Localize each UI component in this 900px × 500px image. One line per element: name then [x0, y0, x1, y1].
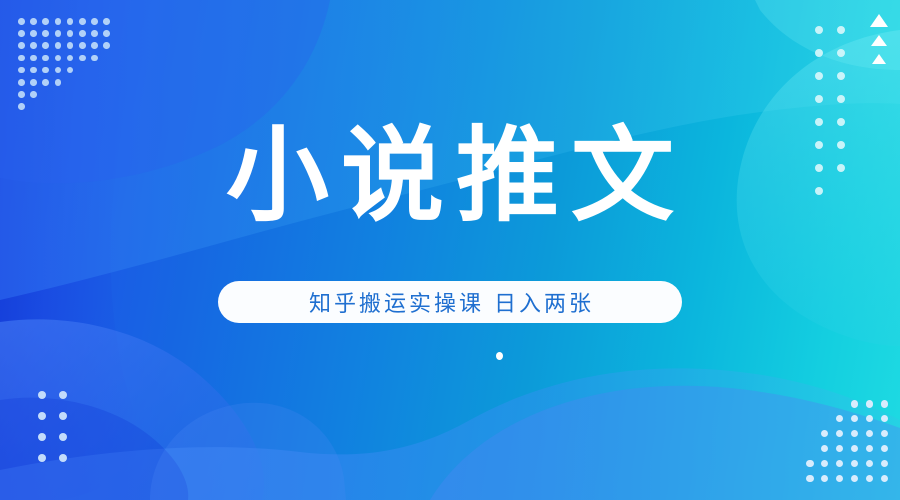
banner-title: 小说推文 — [0, 122, 900, 230]
banner-content: 小说推文 知乎搬运实操课 日入两张 — [0, 0, 900, 500]
banner-subtitle: 知乎搬运实操课 日入两张 — [306, 286, 594, 318]
subtitle-pill: 知乎搬运实操课 日入两张 — [218, 281, 682, 323]
promotional-banner: 小说推文 知乎搬运实操课 日入两张 — [0, 0, 900, 500]
